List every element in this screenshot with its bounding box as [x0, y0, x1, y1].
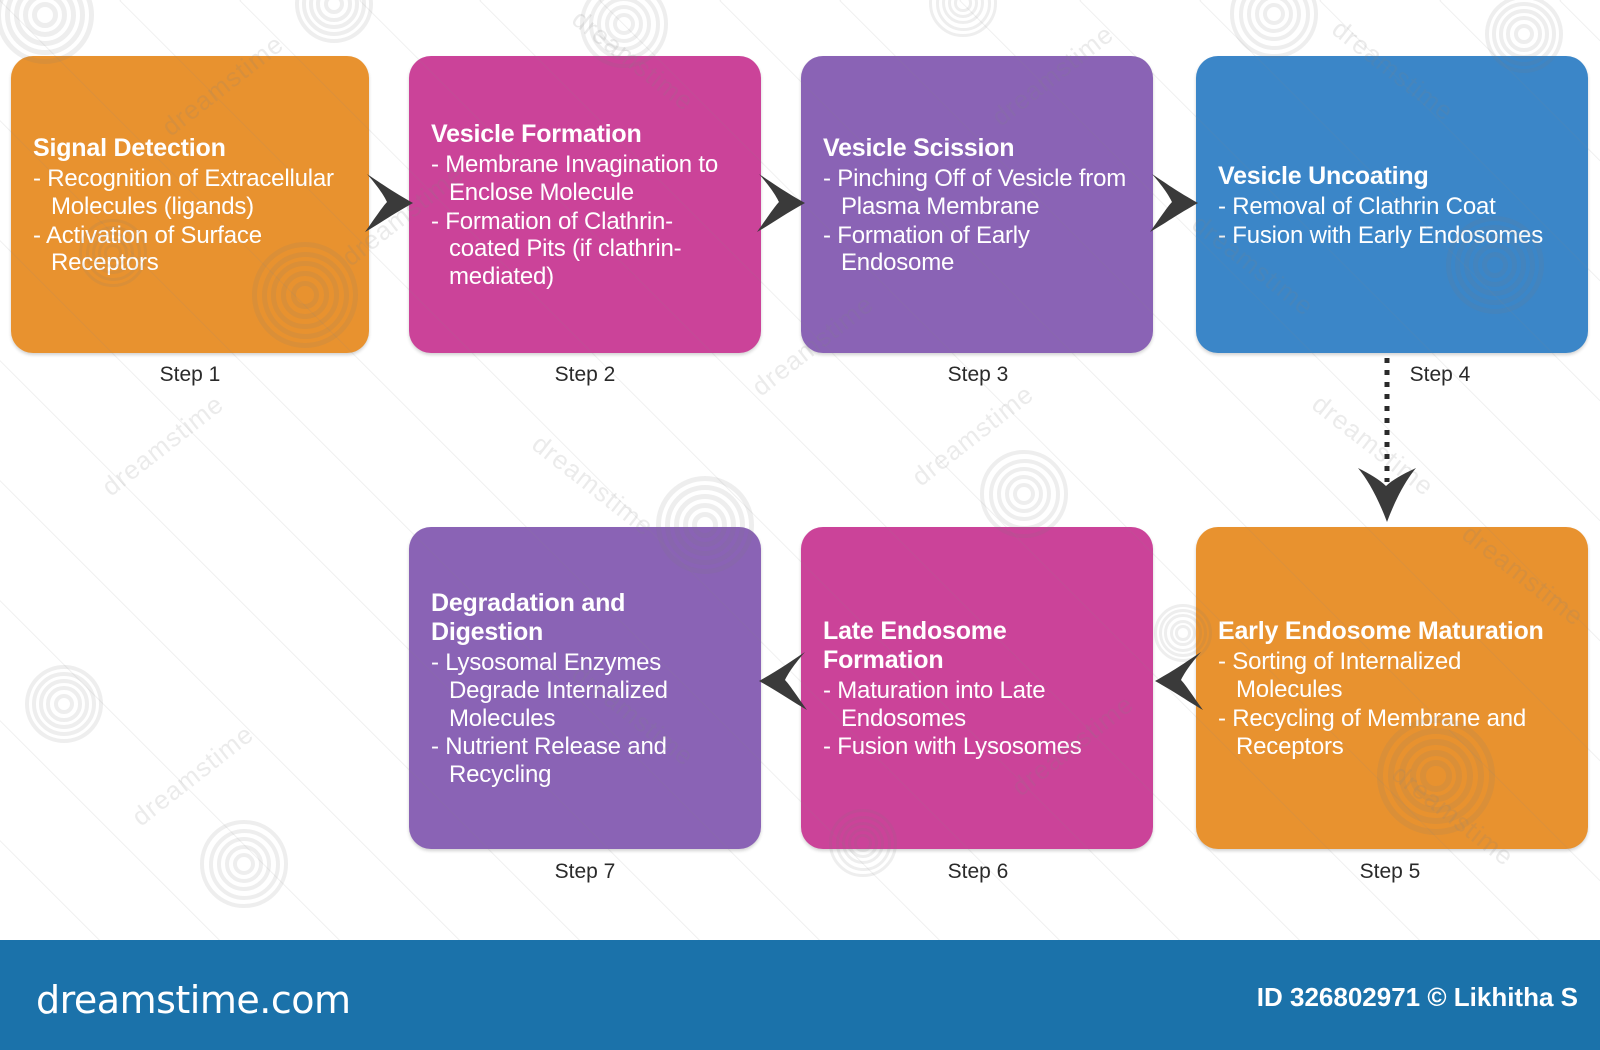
step-box-vesicle-scission[interactable]: Vesicle Scission Pinching Off of Vesicle…	[801, 56, 1153, 353]
step-bullets: Pinching Off of Vesicle from Plasma Memb…	[823, 164, 1133, 277]
bullet-item: Sorting of Internalized Molecules	[1218, 648, 1568, 704]
bullet-item: Activation of Surface Receptors	[33, 222, 349, 278]
watermark-spiral	[605, 5, 644, 44]
watermark-spiral	[316, 0, 351, 22]
bullet-item: Recognition of Extracellular Molecules (…	[33, 165, 349, 221]
watermark-spiral	[309, 0, 359, 29]
watermark-spiral	[14, 0, 76, 46]
step-title: Signal Detection	[33, 134, 349, 163]
bullet-item: Recycling of Membrane and Receptors	[1218, 705, 1568, 761]
watermark-line	[1200, 0, 1600, 1]
watermark-line	[0, 0, 221, 1]
watermark-spiral	[989, 459, 1060, 530]
diagram-canvas: dreamstimedreamstimedreamstimedreamstime…	[0, 0, 1600, 1050]
bullet-item: Pinching Off of Vesicle from Plasma Memb…	[823, 165, 1133, 221]
bullet-item: Formation of Early Endosome	[823, 222, 1133, 278]
watermark-spiral	[302, 0, 366, 36]
watermark-line	[0, 0, 461, 1]
step-box-vesicle-uncoating[interactable]: Vesicle Uncoating Removal of Clathrin Co…	[1196, 56, 1588, 353]
watermark-spiral	[929, 0, 997, 37]
watermark-line	[0, 0, 101, 1]
watermark-line	[0, 0, 341, 1]
watermark-spiral	[1514, 24, 1535, 45]
bullet-item: Fusion with Early Endosomes	[1218, 222, 1568, 250]
watermark-line	[1320, 0, 1600, 1]
watermark-spiral	[997, 467, 1052, 522]
watermark-spiral	[1170, 620, 1196, 646]
bullet-item: Removal of Clathrin Coat	[1218, 193, 1568, 221]
watermark-spiral	[225, 845, 264, 884]
watermark-spiral	[23, 0, 67, 37]
arrow-step6-to-step7-icon	[757, 650, 809, 712]
watermark-spiral	[1263, 3, 1285, 25]
step-bullets: Lysosomal Enzymes Degrade Internalized M…	[431, 648, 741, 789]
watermark-spiral	[980, 450, 1067, 537]
step-bullets: Membrane Invagination to Enclose Molecul…	[431, 150, 741, 291]
watermark-spiral	[200, 820, 287, 907]
watermark-spiral	[954, 0, 971, 12]
watermark-line	[0, 0, 581, 1]
step-label-7: Step 7	[485, 860, 685, 884]
watermark-spiral	[209, 829, 280, 900]
watermark-line	[0, 0, 821, 1]
step-box-signal-detection[interactable]: Signal Detection Recognition of Extracel…	[11, 56, 369, 353]
watermark-text: dreamstime	[96, 388, 230, 502]
watermark-text: dreamstime	[126, 718, 260, 832]
step-label-2: Step 2	[485, 363, 685, 387]
watermark-spiral	[948, 0, 978, 18]
watermark-text: dreamstime	[526, 428, 660, 542]
bullet-item: Fusion with Lysosomes	[823, 733, 1133, 761]
watermark-line	[0, 0, 701, 1]
step-label-6: Step 6	[878, 860, 1078, 884]
watermark-line	[480, 0, 1541, 1]
arrow-step3-to-step4-icon	[1148, 172, 1200, 234]
step-label-3: Step 3	[878, 363, 1078, 387]
watermark-spiral	[1013, 483, 1035, 505]
watermark-spiral	[613, 13, 635, 35]
step-title: Early Endosome Maturation	[1218, 617, 1568, 646]
step-title: Vesicle Uncoating	[1218, 162, 1568, 191]
watermark-text: dreamstime	[906, 378, 1040, 492]
watermark-spiral	[597, 0, 652, 51]
watermark-spiral	[233, 853, 255, 875]
watermark-spiral	[1005, 475, 1044, 514]
watermark-line	[240, 0, 1301, 1]
watermark-line	[1080, 0, 1600, 1]
bullet-item: Maturation into Late Endosomes	[823, 677, 1133, 733]
step-box-early-endosome-maturation[interactable]: Early Endosome Maturation Sorting of Int…	[1196, 527, 1588, 849]
watermark-line	[0, 0, 941, 1]
watermark-spiral	[1247, 0, 1302, 41]
step-title: Late Endosome Formation	[823, 617, 1133, 675]
arrow-step5-to-step6-icon	[1153, 650, 1205, 712]
step-box-degradation-and-digestion[interactable]: Degradation and Digestion Lysosomal Enzy…	[409, 527, 761, 849]
watermark-spiral	[39, 679, 89, 729]
watermark-spiral	[1239, 0, 1310, 50]
watermark-spiral	[32, 672, 96, 736]
watermark-spiral	[295, 0, 373, 43]
watermark-spiral	[217, 837, 272, 892]
watermark-line	[1440, 0, 1600, 1]
step-label-1: Step 1	[90, 363, 290, 387]
image-credit: ID 326802971 © Likhitha S	[1257, 982, 1578, 1013]
watermark-spiral	[46, 686, 81, 721]
step-bullets: Maturation into Late Endosomes Fusion wi…	[823, 676, 1133, 761]
step-title: Degradation and Digestion	[431, 589, 741, 647]
arrow-step4-to-step5-icon	[1356, 356, 1418, 526]
watermark-spiral	[5, 0, 85, 55]
watermark-line	[0, 0, 1061, 1]
watermark-line	[120, 0, 1181, 1]
watermark-line	[600, 0, 1600, 1]
step-bullets: Removal of Clathrin Coat Fusion with Ear…	[1218, 192, 1568, 250]
watermark-line	[840, 0, 1600, 1]
watermark-line	[720, 0, 1600, 1]
watermark-line	[360, 0, 1421, 1]
step-bullets: Recognition of Extracellular Molecules (…	[33, 164, 349, 277]
footer-bar: dreamstime.com ID 326802971 © Likhitha S	[0, 940, 1600, 1050]
watermark-spiral	[1175, 625, 1191, 641]
watermark-spiral	[936, 0, 991, 31]
watermark-spiral	[324, 0, 345, 14]
bullet-item: Lysosomal Enzymes Degrade Internalized M…	[431, 649, 741, 732]
watermark-line	[960, 0, 1600, 1]
bullet-item: Formation of Clathrin-coated Pits (if cl…	[431, 208, 741, 291]
step-label-5: Step 5	[1290, 860, 1490, 884]
watermark-spiral	[54, 694, 75, 715]
step-box-vesicle-formation[interactable]: Vesicle Formation Membrane Invagination …	[409, 56, 761, 353]
step-title: Vesicle Scission	[823, 134, 1133, 163]
step-title: Vesicle Formation	[431, 120, 741, 149]
watermark-spiral	[32, 2, 58, 28]
watermark-spiral	[1499, 9, 1549, 59]
watermark-spiral	[942, 0, 984, 24]
watermark-spiral	[589, 0, 660, 60]
arrow-step1-to-step2-icon	[363, 172, 415, 234]
arrow-step2-to-step3-icon	[755, 172, 807, 234]
watermark-spiral	[1230, 0, 1317, 58]
dreamstime-logo: dreamstime.com	[36, 978, 350, 1022]
bullet-item: Nutrient Release and Recycling	[431, 733, 741, 789]
step-box-late-endosome-formation[interactable]: Late Endosome Formation Maturation into …	[801, 527, 1153, 849]
watermark-spiral	[1506, 16, 1541, 51]
watermark-line	[1560, 0, 1600, 1]
bullet-item: Membrane Invagination to Enclose Molecul…	[431, 151, 741, 207]
watermark-spiral	[0, 0, 94, 64]
step-bullets: Sorting of Internalized Molecules Recycl…	[1218, 647, 1568, 760]
watermark-spiral	[1255, 0, 1294, 33]
watermark-spiral	[25, 665, 103, 743]
